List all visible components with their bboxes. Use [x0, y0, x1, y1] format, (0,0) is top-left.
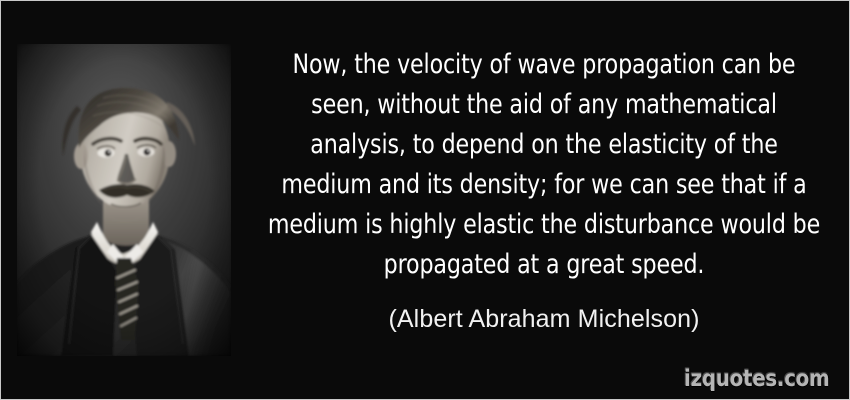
- author-portrait-photo: [17, 44, 231, 356]
- quote-line: medium is highly elastic the disturbance…: [265, 205, 823, 245]
- quote-text: Now, the velocity of wave propagation ca…: [244, 45, 844, 285]
- quote-attribution: (Albert Abraham Michelson): [244, 302, 844, 336]
- quote-line: seen, without the aid of any mathematica…: [265, 85, 823, 125]
- site-watermark: izquotes.com: [684, 366, 829, 392]
- quote-line: Now, the velocity of wave propagation ca…: [265, 45, 823, 85]
- quote-line: analysis, to depend on the elasticity of…: [265, 125, 823, 165]
- quote-line: propagated at a great speed.: [265, 245, 823, 285]
- quote-image-card: Now, the velocity of wave propagation ca…: [0, 0, 850, 400]
- portrait-illustration: [17, 44, 231, 356]
- quote-line: medium and its density; for we can see t…: [265, 165, 823, 205]
